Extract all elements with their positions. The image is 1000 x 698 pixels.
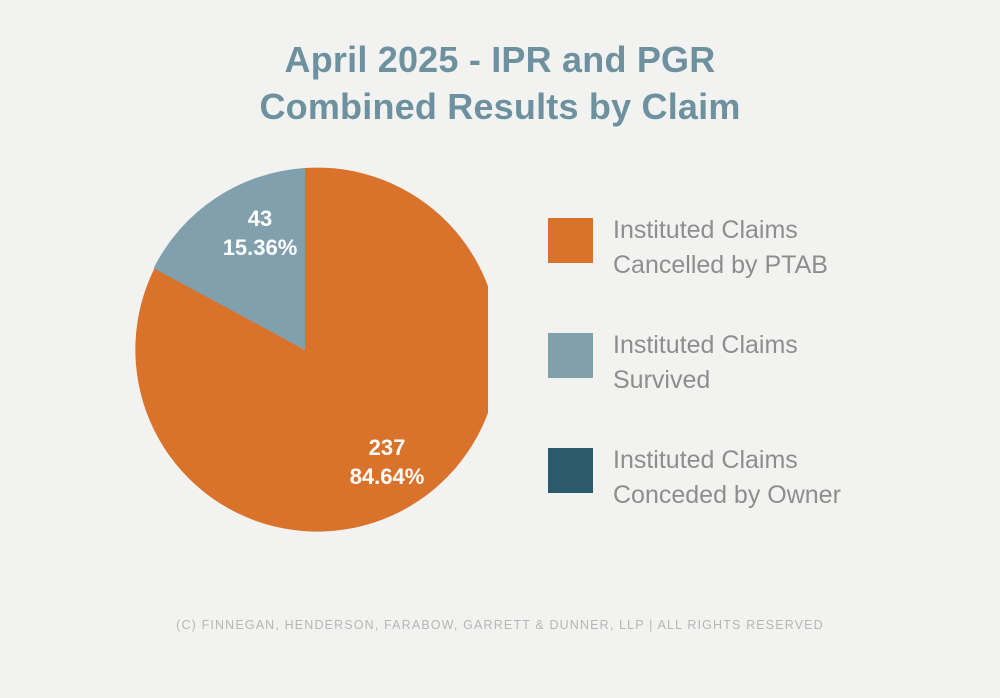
legend-label-line-1: Instituted Claims bbox=[613, 213, 828, 248]
legend-label-line-2: Conceded by Owner bbox=[613, 478, 841, 513]
pie-label-survived-percent: 15.36% bbox=[190, 233, 330, 262]
legend-label-line-2: Survived bbox=[613, 363, 798, 398]
pie-chart: 43 15.36% 237 84.64% bbox=[122, 167, 488, 533]
pie-label-survived-value: 43 bbox=[190, 204, 330, 233]
legend-item-cancelled-by-ptab[interactable]: Instituted Claims Cancelled by PTAB bbox=[548, 213, 968, 283]
legend-label-line-1: Instituted Claims bbox=[613, 328, 798, 363]
legend-swatch-conceded-by-owner bbox=[548, 448, 593, 493]
legend-item-conceded-by-owner[interactable]: Instituted Claims Conceded by Owner bbox=[548, 443, 968, 513]
copyright-footer: (C) FINNEGAN, HENDERSON, FARABOW, GARRET… bbox=[0, 618, 1000, 632]
pie-label-cancelled: 237 84.64% bbox=[312, 433, 462, 491]
legend-swatch-survived bbox=[548, 333, 593, 378]
page-title-line-2: Combined Results by Claim bbox=[0, 83, 1000, 130]
legend-label-cancelled-by-ptab: Instituted Claims Cancelled by PTAB bbox=[613, 213, 828, 283]
page-title: April 2025 - IPR and PGR Combined Result… bbox=[0, 36, 1000, 130]
legend-swatch-cancelled-by-ptab bbox=[548, 218, 593, 263]
pie-label-survived: 43 15.36% bbox=[190, 204, 330, 262]
legend-label-conceded-by-owner: Instituted Claims Conceded by Owner bbox=[613, 443, 841, 513]
pie-label-cancelled-value: 237 bbox=[312, 433, 462, 462]
legend-label-survived: Instituted Claims Survived bbox=[613, 328, 798, 398]
page-title-line-1: April 2025 - IPR and PGR bbox=[0, 36, 1000, 83]
pie-label-cancelled-percent: 84.64% bbox=[312, 462, 462, 491]
legend-label-line-1: Instituted Claims bbox=[613, 443, 841, 478]
legend-item-survived[interactable]: Instituted Claims Survived bbox=[548, 328, 968, 398]
legend-label-line-2: Cancelled by PTAB bbox=[613, 248, 828, 283]
chart-legend: Instituted Claims Cancelled by PTAB Inst… bbox=[548, 213, 968, 558]
